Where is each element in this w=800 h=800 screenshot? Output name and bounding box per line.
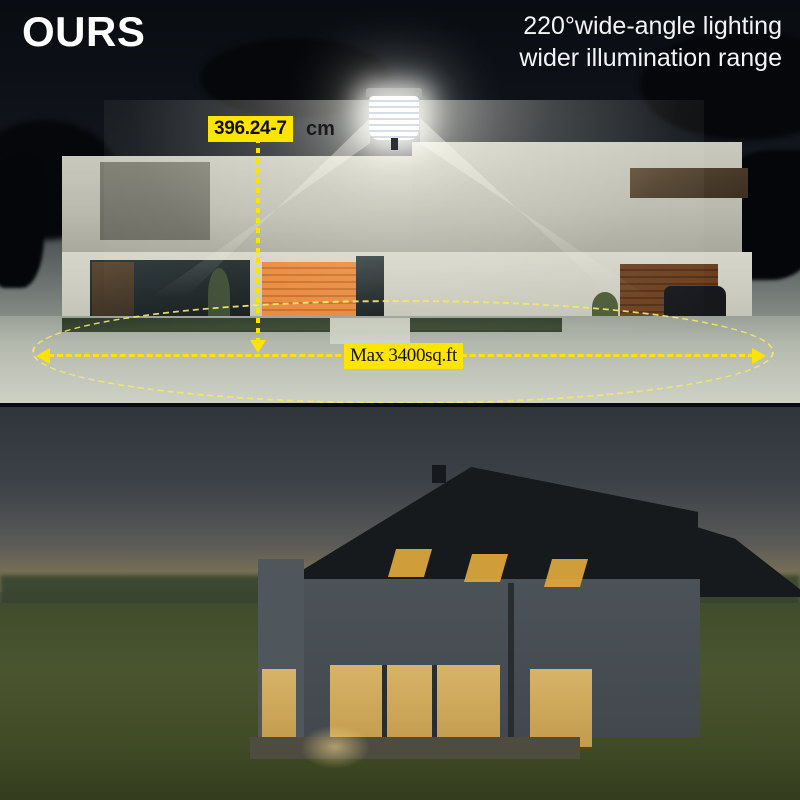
chimney xyxy=(432,465,446,483)
arrow-left-icon xyxy=(36,348,50,364)
ours-panel: cm 396.24-7 Max 3400sq.ft OURS 220°wide-… xyxy=(0,0,800,405)
side-room-window xyxy=(530,669,592,747)
ours-tagline-line2: wider illumination range xyxy=(519,42,782,74)
height-label-suffix: cm xyxy=(306,118,335,141)
ours-tagline-line1: 220°wide-angle lighting xyxy=(519,10,782,42)
ours-area-label: Max 3400sq.ft xyxy=(344,343,463,369)
villa-upper-window xyxy=(630,168,748,198)
mounting-height-line xyxy=(256,128,260,350)
villa-interior-glow xyxy=(92,262,134,316)
ours-title: OURS xyxy=(22,8,145,56)
led-flood-light-fixture xyxy=(364,88,424,142)
others-panel: 13-15ft/396.24-457.2cm Max 3000sq.ft Oth… xyxy=(0,407,800,800)
palm-frond-left xyxy=(0,158,44,288)
fixture-lens xyxy=(369,96,419,140)
villa-upper-recess xyxy=(100,162,210,240)
downpipe xyxy=(508,583,514,747)
fixture-mount-arm xyxy=(391,138,398,150)
arrow-right-icon xyxy=(752,348,766,364)
window-mullion-1 xyxy=(382,665,387,747)
ground-light-glow xyxy=(300,725,370,769)
ours-tagline: 220°wide-angle lighting wider illuminati… xyxy=(519,10,782,74)
product-comparison-image: cm 396.24-7 Max 3400sq.ft OURS 220°wide-… xyxy=(0,0,800,800)
arrow-down-icon xyxy=(250,340,266,353)
left-room-window xyxy=(262,669,296,743)
ours-height-label: 396.24-7 xyxy=(208,116,293,142)
panel-divider xyxy=(0,403,800,407)
tree-silhouette-mid xyxy=(200,38,390,118)
window-mullion-2 xyxy=(432,665,437,747)
